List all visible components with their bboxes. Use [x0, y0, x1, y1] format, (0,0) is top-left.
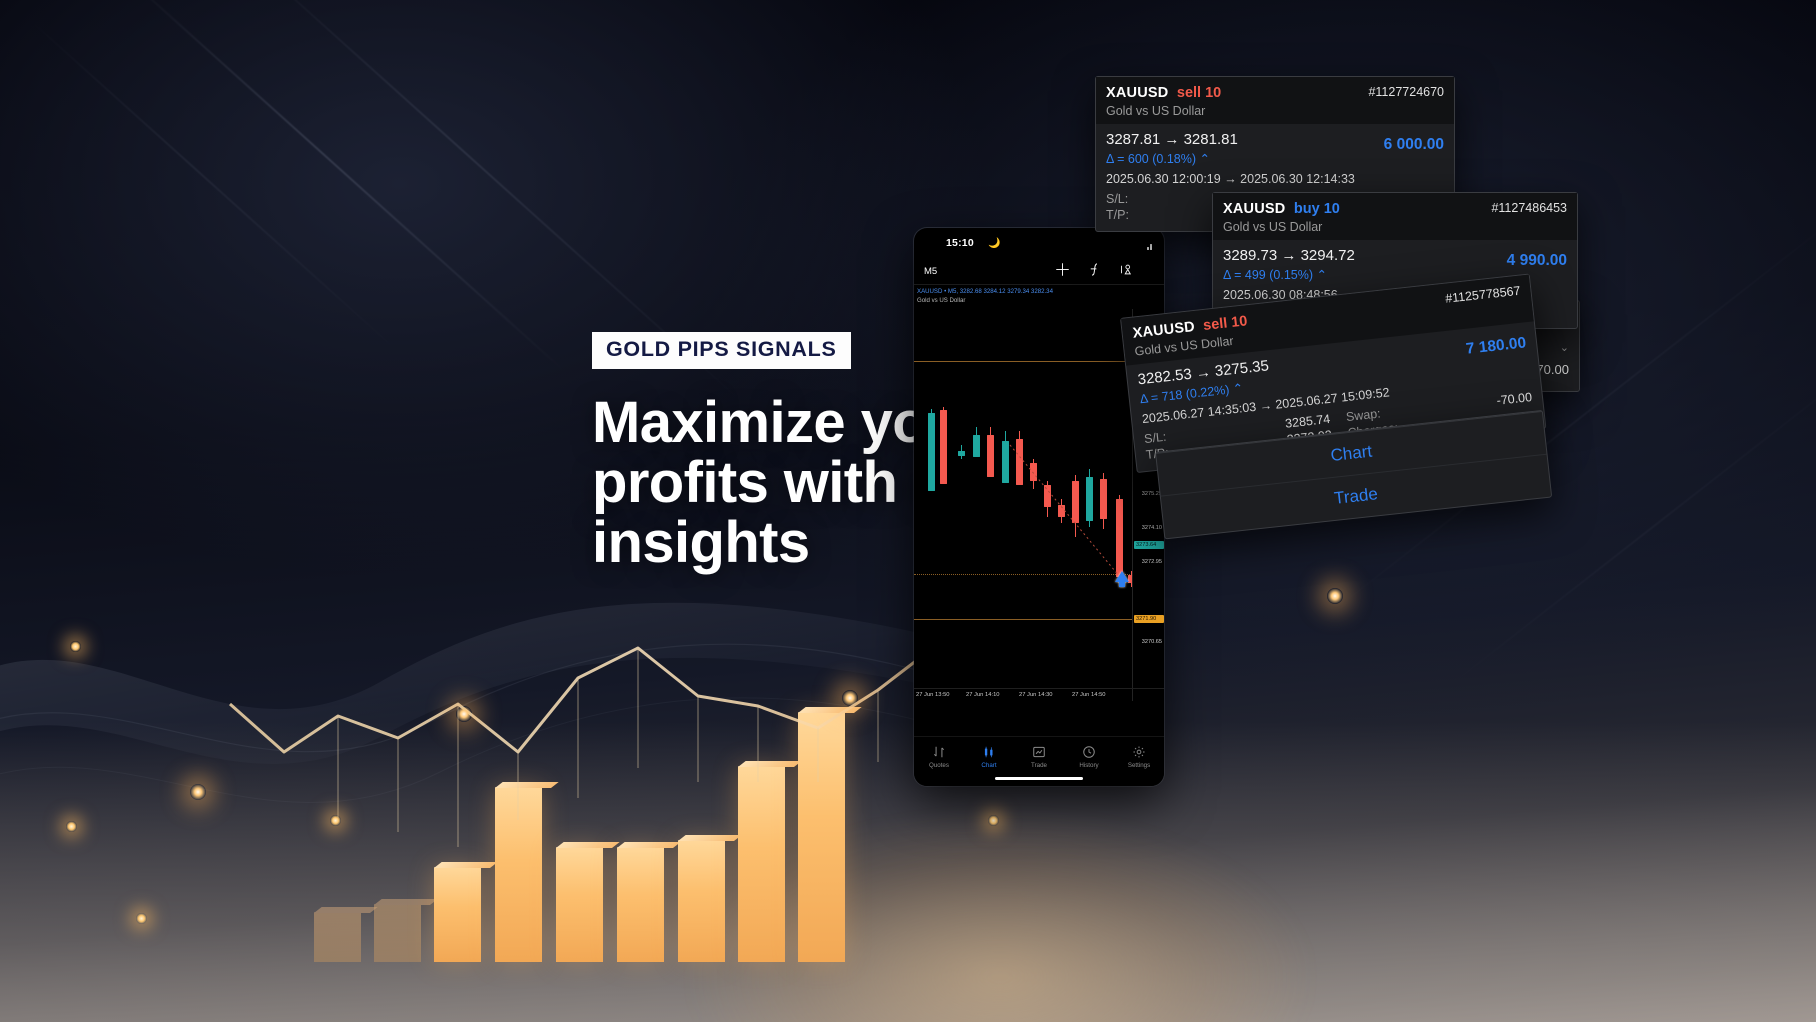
chart-plot-area[interactable]: [914, 309, 1132, 701]
quote-instrument: Gold vs US Dollar: [917, 297, 1164, 306]
indicators-icon[interactable]: [1087, 262, 1102, 277]
chart-icon: [982, 744, 996, 759]
quote-symbol-line: XAUUSD • M5, 3282.68 3284.12 3279.34 328…: [917, 288, 1053, 295]
background-line-chart: [290, 632, 1010, 962]
arrow-icon: →: [1259, 398, 1273, 413]
trade-instrument: Gold vs US Dollar: [1223, 220, 1567, 234]
phone-mockup: 15:10 🌙 M5 XAUUSD • M5, 3282.68 3284.12 …: [914, 228, 1164, 786]
arrow-icon: →: [1281, 247, 1296, 264]
timeframe-label[interactable]: M5: [924, 266, 937, 277]
tab-label: Quotes: [929, 762, 949, 769]
trade-symbol: XAUUSD: [1223, 201, 1285, 217]
trade-instrument: Gold vs US Dollar: [1106, 104, 1444, 118]
trade-card-header: XAUUSD buy 10 #1127486453 Gold vs US Dol…: [1213, 193, 1577, 240]
price-level-line: [914, 619, 1132, 620]
caret-up-icon: ⌃: [1200, 152, 1210, 166]
glow-node: [1327, 588, 1343, 604]
price-tick: 3270.65: [1142, 639, 1162, 645]
trade-profit: 6 000.00: [1384, 136, 1444, 154]
glow-node: [456, 706, 472, 722]
price-level-line-dotted: [914, 574, 1132, 575]
caret-up-icon: ⌃: [1232, 381, 1244, 396]
arrow-icon: →: [1164, 131, 1179, 148]
glow-node: [988, 815, 999, 826]
sl-label: S/L:: [1143, 430, 1167, 446]
glow-node: [70, 641, 81, 652]
tab-label: Trade: [1031, 762, 1047, 769]
trade-ticket: #1125778567: [1445, 284, 1522, 306]
price-tick: 3272.95: [1142, 559, 1162, 565]
crosshair-icon[interactable]: [1055, 262, 1070, 277]
trade-ticket: #1127486453: [1491, 201, 1567, 215]
tp-label: T/P:: [1106, 208, 1129, 222]
tab-quotes[interactable]: Quotes: [914, 737, 964, 786]
time-tick: 27 Jun 14:50: [1072, 692, 1106, 698]
moon-icon: 🌙: [988, 238, 1000, 249]
status-bar: 15:10 🌙: [914, 228, 1164, 258]
glow-node: [330, 815, 341, 826]
glow-node: [136, 913, 147, 924]
trade-profit: 4 990.00: [1507, 252, 1567, 270]
time-tick: 27 Jun 14:30: [1019, 692, 1053, 698]
level-price-tag: 3271.90: [1134, 615, 1164, 623]
trade-side: sell 10: [1177, 85, 1221, 101]
trade-side: buy 10: [1294, 201, 1340, 217]
time-tick: 27 Jun 14:10: [966, 692, 1000, 698]
home-indicator: [995, 777, 1083, 781]
arrow-icon: →: [1195, 364, 1212, 383]
price-level-line: [914, 361, 1132, 362]
tab-label: Chart: [981, 762, 996, 769]
trade-times: 2025.06.30 12:00:19 → 2025.06.30 12:14:3…: [1106, 172, 1444, 186]
tab-label: Settings: [1128, 762, 1150, 769]
quote-header: XAUUSD • M5, 3282.68 3284.12 3279.34 328…: [914, 284, 1164, 309]
objects-icon[interactable]: [1119, 262, 1134, 277]
settings-icon: [1132, 744, 1146, 759]
tab-settings[interactable]: Settings: [1114, 737, 1164, 786]
glow-node: [66, 821, 77, 832]
time-tick: 27 Jun 13:50: [916, 692, 950, 698]
signal-icon: [1147, 244, 1153, 250]
quotes-icon: [932, 744, 946, 759]
tab-label: History: [1079, 762, 1098, 769]
glow-node: [190, 784, 206, 800]
trade-symbol: XAUUSD: [1106, 85, 1168, 101]
glow-node: [842, 690, 858, 706]
status-clock: 15:10: [946, 237, 974, 249]
caret-up-icon: ⌃: [1317, 268, 1327, 282]
trade-card-header: XAUUSD sell 10 #1127724670 Gold vs US Do…: [1096, 77, 1454, 124]
current-price-tag: 3273.64: [1134, 541, 1164, 549]
trade-ticket: #1127724670: [1368, 85, 1444, 99]
trade-side: sell 10: [1202, 313, 1248, 334]
price-tick: 3274.10: [1142, 525, 1162, 531]
sl-label: S/L:: [1106, 192, 1128, 206]
trade-icon: [1032, 744, 1046, 759]
hero-badge: GOLD PIPS SIGNALS: [592, 332, 851, 369]
buy-arrow-marker: [1115, 571, 1129, 582]
time-axis: 27 Jun 13:50 27 Jun 14:10 27 Jun 14:30 2…: [914, 688, 1164, 701]
arrow-icon: →: [1224, 172, 1237, 186]
history-icon: [1082, 744, 1096, 759]
chart-toolbar: M5: [914, 258, 1164, 284]
